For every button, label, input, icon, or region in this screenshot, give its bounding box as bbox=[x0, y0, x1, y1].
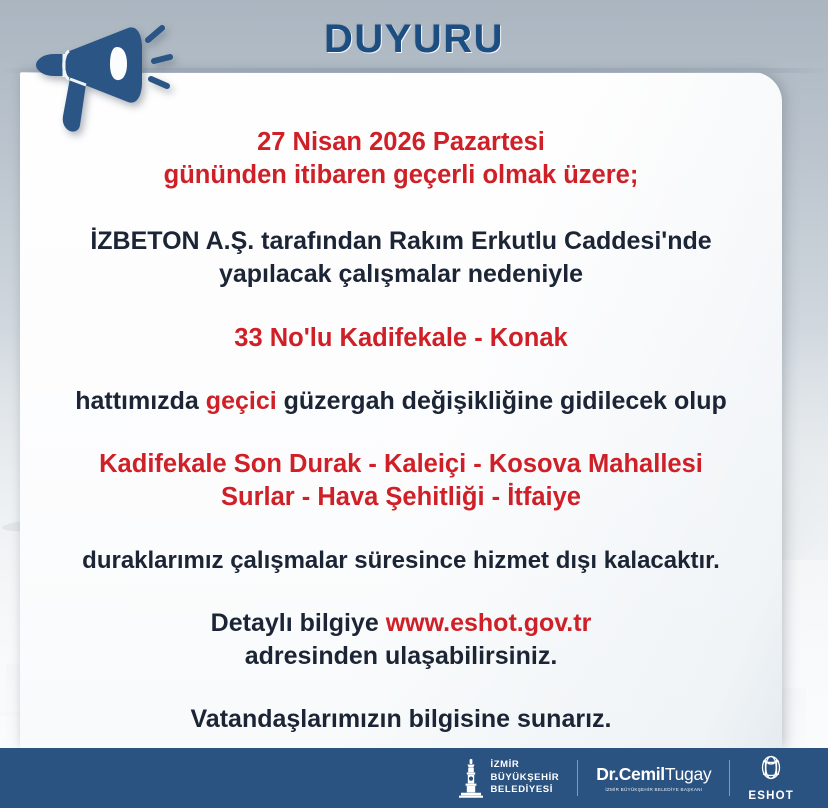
eshot-name: ESHOT bbox=[748, 790, 794, 802]
reason-line-2: yapılacak çalışmalar nedeniyle bbox=[54, 258, 748, 291]
route-line: 33 No'lu Kadifekale - Konak bbox=[54, 322, 748, 355]
clock-tower-icon bbox=[457, 758, 485, 798]
footer-divider-1 bbox=[577, 760, 578, 796]
info-prefix: Detaylı bilgiye bbox=[211, 609, 386, 637]
change-suffix: güzergah değişikliğine gidilecek olup bbox=[277, 387, 727, 415]
footer-divider-2 bbox=[729, 760, 730, 796]
izmir-municipality-logo: İZMİR BÜYÜKŞEHİR BELEDİYESİ bbox=[457, 758, 559, 798]
mayor-name-bold: Dr.Cemil bbox=[596, 764, 665, 784]
change-prefix: hattımızda bbox=[75, 387, 206, 415]
izmir-logo-line-3: BELEDİYESİ bbox=[490, 784, 559, 797]
change-line: hattımızda geçici güzergah değişikliğine… bbox=[54, 385, 748, 418]
info-line-2: adresinden ulaşabilirsiniz. bbox=[54, 640, 748, 673]
announcement-body: 27 Nisan 2026 Pazartesi gününden itibare… bbox=[20, 72, 782, 748]
date-line-2: gününden itibaren geçerli olmak üzere; bbox=[54, 159, 748, 192]
announcement-poster: DUYURU 27 Nisan bbox=[0, 0, 828, 808]
footer-bar: İZMİR BÜYÜKŞEHİR BELEDİYESİ Dr.CemilTuga… bbox=[0, 748, 828, 808]
reason-line-1: İZBETON A.Ş. tarafından Rakım Erkutlu Ca… bbox=[54, 225, 748, 258]
mayor-name-thin: Tugay bbox=[665, 764, 712, 784]
stops-line-1: Kadifekale Son Durak - Kaleiçi - Kosova … bbox=[54, 448, 748, 481]
info-url[interactable]: www.eshot.gov.tr bbox=[386, 609, 592, 637]
izmir-logo-line-1: İZMİR bbox=[490, 759, 559, 772]
mayor-logo: Dr.CemilTugay İZMİR BÜYÜKŞEHİR BELEDİYE … bbox=[596, 764, 711, 792]
info-line-1: Detaylı bilgiye www.eshot.gov.tr bbox=[54, 607, 748, 640]
izmir-logo-line-2: BÜYÜKŞEHİR bbox=[490, 772, 559, 785]
eshot-logo: ESHOT bbox=[748, 754, 794, 802]
stops-line-2: Surlar - Hava Şehitliği - İtfaiye bbox=[54, 481, 748, 514]
mayor-subtitle: İZMİR BÜYÜKŞEHİR BELEDİYE BAŞKANI bbox=[596, 787, 711, 792]
change-highlight: geçici bbox=[206, 387, 277, 415]
stops-note: duraklarımız çalışmalar süresince hizmet… bbox=[54, 545, 748, 576]
closing-line: Vatandaşlarımızın bilgisine sunarız. bbox=[54, 703, 748, 736]
mayor-name: Dr.CemilTugay bbox=[596, 764, 711, 785]
eshot-monogram-icon bbox=[754, 754, 788, 784]
megaphone-icon bbox=[24, 14, 174, 139]
